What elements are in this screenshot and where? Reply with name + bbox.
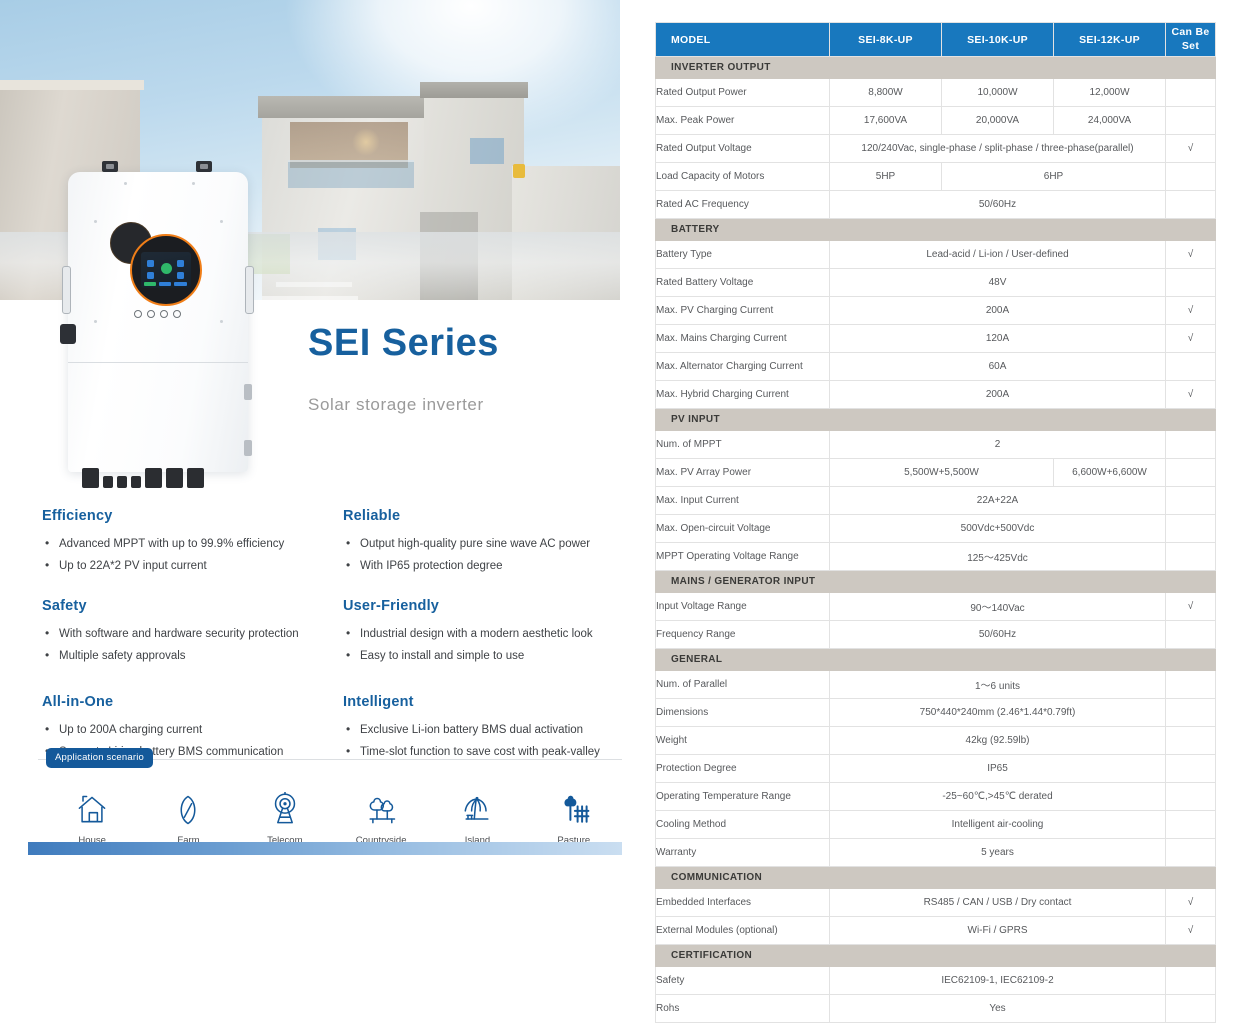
spec-row: Rated Output Power8,800W10,000W12,000W — [656, 79, 1216, 107]
spec-row-value: 22A+22A — [830, 487, 1166, 515]
control-button — [173, 310, 181, 318]
header-model-label: MODEL — [656, 23, 830, 57]
spec-row-label: Max. PV Array Power — [656, 459, 830, 487]
spec-can-be-set-cell — [1166, 163, 1216, 191]
control-button — [147, 310, 155, 318]
spec-row-value: Wi-Fi / GPRS — [830, 917, 1166, 945]
tree-fence-icon — [526, 784, 622, 828]
spec-row-label: Max. Open-circuit Voltage — [656, 515, 830, 543]
spec-row-label: Operating Temperature Range — [656, 783, 830, 811]
spec-can-be-set-cell: √ — [1166, 593, 1216, 621]
spec-row: Dimensions750*440*240mm (2.46*1.44*0.79f… — [656, 699, 1216, 727]
spec-row: Max. PV Array Power5,500W+5,500W6,600W+6… — [656, 459, 1216, 487]
spec-row-value: IP65 — [830, 755, 1166, 783]
spec-row-value: RS485 / CAN / USB / Dry contact — [830, 889, 1166, 917]
spec-row-label: Embedded Interfaces — [656, 889, 830, 917]
feature-group: User-FriendlyIndustrial design with a mo… — [343, 598, 622, 668]
spec-section-header: COMMUNICATION — [656, 867, 1216, 889]
window-upper — [470, 138, 504, 164]
specification-table: MODEL SEI-8K-UP SEI-10K-UP SEI-12K-UP Ca… — [655, 22, 1216, 1023]
header-model-2: SEI-10K-UP — [942, 23, 1054, 57]
spec-can-be-set-cell — [1166, 783, 1216, 811]
spec-can-be-set-cell — [1166, 431, 1216, 459]
spec-can-be-set-cell — [1166, 755, 1216, 783]
spec-row-label: Protection Degree — [656, 755, 830, 783]
scenario-item: Countryside — [333, 784, 429, 846]
spec-can-be-set-cell — [1166, 107, 1216, 135]
feature-heading: User-Friendly — [343, 598, 622, 614]
spec-row-value: 6,600W+6,600W — [1054, 459, 1166, 487]
cable-gland — [131, 476, 141, 488]
cable-glands — [82, 468, 204, 488]
spec-row-value: 50/60Hz — [830, 191, 1166, 219]
left-panel: SEI Series Solar storage inverter Effici… — [0, 0, 640, 867]
spec-row-value: 12,000W — [1054, 79, 1166, 107]
cable-gland — [117, 476, 127, 488]
feature-column-right: ReliableOutput high-quality pure sine wa… — [343, 508, 622, 784]
spec-row-value: 200A — [830, 297, 1166, 325]
spec-row: Frequency Range50/60Hz — [656, 621, 1216, 649]
spec-can-be-set-cell — [1166, 459, 1216, 487]
spec-can-be-set-cell — [1166, 191, 1216, 219]
mount-bracket — [102, 161, 118, 172]
screw — [220, 320, 223, 323]
spec-row-label: Max. Hybrid Charging Current — [656, 381, 830, 409]
spec-row: External Modules (optional)Wi-Fi / GPRS√ — [656, 917, 1216, 945]
spec-can-be-set-cell: √ — [1166, 241, 1216, 269]
bottom-gradient-bar — [28, 842, 622, 855]
spec-row-value: IEC62109-1, IEC62109-2 — [830, 967, 1166, 995]
spec-section-title: CERTIFICATION — [656, 945, 1216, 967]
screw — [124, 182, 127, 185]
feature-bullet: Multiple safety approvals — [42, 645, 321, 667]
spec-can-be-set-cell — [1166, 487, 1216, 515]
screw — [192, 182, 195, 185]
spec-can-be-set-cell — [1166, 995, 1216, 1023]
header-can-be-set: Can Be Set — [1166, 23, 1216, 57]
side-clip — [244, 384, 252, 400]
spec-row-value: 5HP — [830, 163, 942, 191]
screen-status-indicator — [161, 263, 172, 274]
chassis-seam — [68, 362, 248, 363]
spec-can-be-set-cell — [1166, 727, 1216, 755]
spec-row: Cooling MethodIntelligent air-cooling — [656, 811, 1216, 839]
spec-row-label: Rated Output Voltage — [656, 135, 830, 163]
spec-table-body: INVERTER OUTPUTRated Output Power8,800W1… — [656, 57, 1216, 1023]
spec-row: Max. Input Current22A+22A — [656, 487, 1216, 515]
scenario-badge: Application scenario — [46, 748, 153, 768]
house-right-roof — [420, 82, 528, 98]
spec-section-header: INVERTER OUTPUT — [656, 57, 1216, 79]
spec-section-title: BATTERY — [656, 219, 1216, 241]
spec-row-value: Yes — [830, 995, 1166, 1023]
spec-can-be-set-cell: √ — [1166, 297, 1216, 325]
spec-row-value: 750*440*240mm (2.46*1.44*0.79ft) — [830, 699, 1166, 727]
spec-can-be-set-cell — [1166, 543, 1216, 571]
spec-row-label: Rated Output Power — [656, 79, 830, 107]
spec-row: Max. Mains Charging Current120A√ — [656, 325, 1216, 353]
screen-tile — [147, 272, 154, 279]
scenario-item: Farm — [140, 784, 236, 846]
spec-row: MPPT Operating Voltage Range125～425Vdc — [656, 543, 1216, 571]
screen-bar — [159, 282, 171, 286]
feature-list: EfficiencyAdvanced MPPT with up to 99.9%… — [42, 508, 622, 784]
feature-heading: Efficiency — [42, 508, 321, 524]
spec-row-label: Warranty — [656, 839, 830, 867]
spec-row-label: Max. Mains Charging Current — [656, 325, 830, 353]
palm-island-icon — [429, 784, 525, 828]
spec-row-value: 125～425Vdc — [830, 543, 1166, 571]
spec-row: Max. Open-circuit Voltage500Vdc+500Vdc — [656, 515, 1216, 543]
scenario-item: Pasture — [526, 784, 622, 846]
feature-bullet: With IP65 protection degree — [343, 555, 622, 577]
spec-can-be-set-cell — [1166, 269, 1216, 297]
inverter-chassis — [68, 172, 248, 472]
spec-row-label: Input Voltage Range — [656, 593, 830, 621]
spec-section-title: GENERAL — [656, 649, 1216, 671]
spec-row-value: 500Vdc+500Vdc — [830, 515, 1166, 543]
spec-row-value: 90～140Vac — [830, 593, 1166, 621]
spec-can-be-set-cell — [1166, 79, 1216, 107]
spec-can-be-set-cell — [1166, 811, 1216, 839]
spec-row: Load Capacity of Motors5HP6HP — [656, 163, 1216, 191]
spec-row: Num. of MPPT2 — [656, 431, 1216, 459]
feature-bullet: With software and hardware security prot… — [42, 623, 321, 645]
spec-row-label: Max. Input Current — [656, 487, 830, 515]
spec-row-value: 1～6 units — [830, 671, 1166, 699]
spec-can-be-set-cell — [1166, 967, 1216, 995]
spec-row: Weight42kg (92.59lb) — [656, 727, 1216, 755]
feature-heading: Intelligent — [343, 694, 622, 710]
trees-icon — [333, 784, 429, 828]
inverter-product-image — [68, 172, 248, 490]
spec-row-value: 24,000VA — [1054, 107, 1166, 135]
control-buttons — [134, 310, 181, 318]
spec-can-be-set-cell: √ — [1166, 917, 1216, 945]
spec-row: Rated AC Frequency50/60Hz — [656, 191, 1216, 219]
spec-can-be-set-cell: √ — [1166, 889, 1216, 917]
spec-row-value: 50/60Hz — [830, 621, 1166, 649]
spec-row-label: Num. of Parallel — [656, 671, 830, 699]
spec-row-label: Battery Type — [656, 241, 830, 269]
antenna-tower-icon — [237, 784, 333, 828]
spec-row-label: External Modules (optional) — [656, 917, 830, 945]
spec-table-head: MODEL SEI-8K-UP SEI-10K-UP SEI-12K-UP Ca… — [656, 23, 1216, 57]
screen-tile — [147, 260, 154, 267]
spec-section-title: INVERTER OUTPUT — [656, 57, 1216, 79]
spec-section-header: GENERAL — [656, 649, 1216, 671]
spec-can-be-set-cell — [1166, 839, 1216, 867]
spec-row-value: 120A — [830, 325, 1166, 353]
spec-row-label: MPPT Operating Voltage Range — [656, 543, 830, 571]
spec-row-label: Rohs — [656, 995, 830, 1023]
cable-gland — [187, 468, 204, 488]
spec-row-label: Weight — [656, 727, 830, 755]
spec-row-value: 5 years — [830, 839, 1166, 867]
feature-bullet: Exclusive Li-ion battery BMS dual activa… — [343, 719, 622, 741]
spec-row-value: 200A — [830, 381, 1166, 409]
spec-row-label: Dimensions — [656, 699, 830, 727]
spec-row-value: 8,800W — [830, 79, 942, 107]
spec-row-label: Max. PV Charging Current — [656, 297, 830, 325]
spec-row-value: 60A — [830, 353, 1166, 381]
spec-row-value: Lead-acid / Li-ion / User-defined — [830, 241, 1166, 269]
spec-can-be-set-cell: √ — [1166, 325, 1216, 353]
house-upper-roof — [258, 96, 444, 118]
spec-row-label: Rated AC Frequency — [656, 191, 830, 219]
cable-gland — [166, 468, 183, 488]
scenario-icon-row: HouseFarmTelecomCountrysideIslandPasture — [38, 784, 622, 846]
screen-tile — [177, 272, 184, 279]
feature-heading: Reliable — [343, 508, 622, 524]
header-model-1: SEI-8K-UP — [830, 23, 942, 57]
house-balcony — [288, 160, 414, 188]
spec-can-be-set-cell — [1166, 353, 1216, 381]
control-button — [160, 310, 168, 318]
spec-row-value: Intelligent air-cooling — [830, 811, 1166, 839]
spec-row-label: Num. of MPPT — [656, 431, 830, 459]
spec-can-be-set-cell: √ — [1166, 381, 1216, 409]
building-left-roof — [0, 80, 144, 90]
spec-row-value: 5,500W+5,500W — [830, 459, 1054, 487]
feature-bullet: Industrial design with a modern aestheti… — [343, 623, 622, 645]
product-title: SEI Series — [308, 322, 499, 365]
spec-row-label: Load Capacity of Motors — [656, 163, 830, 191]
feature-column-left: EfficiencyAdvanced MPPT with up to 99.9%… — [42, 508, 321, 784]
spec-row: Max. Peak Power17,600VA20,000VA24,000VA — [656, 107, 1216, 135]
spec-row-label: Rated Battery Voltage — [656, 269, 830, 297]
feature-bullet: Up to 200A charging current — [42, 719, 321, 741]
spec-section-title: PV INPUT — [656, 409, 1216, 431]
spec-row: Operating Temperature Range-25~60℃,>45℃ … — [656, 783, 1216, 811]
spec-section-header: CERTIFICATION — [656, 945, 1216, 967]
spec-row-label: Max. Alternator Charging Current — [656, 353, 830, 381]
spec-row: Protection DegreeIP65 — [656, 755, 1216, 783]
mount-bracket — [196, 161, 212, 172]
spec-row: Max. PV Charging Current200A√ — [656, 297, 1216, 325]
scenario-item: House — [44, 784, 140, 846]
cable-gland — [103, 476, 113, 488]
screw — [94, 320, 97, 323]
spec-row-label: Cooling Method — [656, 811, 830, 839]
side-handle-left — [62, 266, 71, 314]
scenario-header: Application scenario — [38, 748, 622, 770]
feature-group: SafetyWith software and hardware securit… — [42, 598, 321, 668]
side-handle-right — [245, 266, 254, 314]
scenario-item: Telecom — [237, 784, 333, 846]
feature-bullet: Easy to install and simple to use — [343, 645, 622, 667]
spec-row-value: 48V — [830, 269, 1166, 297]
spec-row: Battery TypeLead-acid / Li-ion / User-de… — [656, 241, 1216, 269]
spec-can-be-set-cell — [1166, 515, 1216, 543]
spec-row: Input Voltage Range90～140Vac√ — [656, 593, 1216, 621]
spec-row-value: 120/240Vac, single-phase / split-phase /… — [830, 135, 1166, 163]
spec-row-label: Safety — [656, 967, 830, 995]
spec-row: Embedded InterfacesRS485 / CAN / USB / D… — [656, 889, 1216, 917]
display-screen — [141, 252, 191, 288]
house-icon — [44, 784, 140, 828]
feature-bullet: Up to 22A*2 PV input current — [42, 555, 321, 577]
spec-row: Rated Battery Voltage48V — [656, 269, 1216, 297]
spec-row: SafetyIEC62109-1, IEC62109-2 — [656, 967, 1216, 995]
spec-row-value: 2 — [830, 431, 1166, 459]
title-block: SEI Series Solar storage inverter — [308, 322, 499, 415]
cable-gland — [145, 468, 162, 488]
screw — [220, 220, 223, 223]
spec-row: Rated Output Voltage120/240Vac, single-p… — [656, 135, 1216, 163]
control-button — [134, 310, 142, 318]
spec-row: Num. of Parallel1～6 units — [656, 671, 1216, 699]
screen-tile — [177, 260, 184, 267]
spec-section-title: MAINS / GENERATOR INPUT — [656, 571, 1216, 593]
spec-row-value: 6HP — [942, 163, 1166, 191]
table-header-row: MODEL SEI-8K-UP SEI-10K-UP SEI-12K-UP Ca… — [656, 23, 1216, 57]
lens-flare — [352, 128, 380, 156]
side-connector-box — [60, 324, 76, 344]
feature-bullet: Output high-quality pure sine wave AC po… — [343, 533, 622, 555]
display-bezel — [130, 234, 202, 306]
spec-can-be-set-cell — [1166, 671, 1216, 699]
screen-bar — [174, 282, 187, 286]
spec-row-value: 20,000VA — [942, 107, 1054, 135]
feature-heading: Safety — [42, 598, 321, 614]
spec-row: Max. Hybrid Charging Current200A√ — [656, 381, 1216, 409]
spec-row: RohsYes — [656, 995, 1216, 1023]
leaf-icon — [140, 784, 236, 828]
header-model-3: SEI-12K-UP — [1054, 23, 1166, 57]
spec-row-label: Max. Peak Power — [656, 107, 830, 135]
feature-heading: All-in-One — [42, 694, 321, 710]
spec-row: Warranty5 years — [656, 839, 1216, 867]
screw — [94, 220, 97, 223]
feature-group: EfficiencyAdvanced MPPT with up to 99.9%… — [42, 508, 321, 578]
spec-row-value: 10,000W — [942, 79, 1054, 107]
spec-row-label: Frequency Range — [656, 621, 830, 649]
spec-row-value: 42kg (92.59lb) — [830, 727, 1166, 755]
cable-gland — [82, 468, 99, 488]
spec-section-header: MAINS / GENERATOR INPUT — [656, 571, 1216, 593]
scenario-item: Island — [429, 784, 525, 846]
spec-section-title: COMMUNICATION — [656, 867, 1216, 889]
feature-group: ReliableOutput high-quality pure sine wa… — [343, 508, 622, 578]
spec-row-value: -25~60℃,>45℃ derated — [830, 783, 1166, 811]
spec-can-be-set-cell: √ — [1166, 135, 1216, 163]
feature-bullet: Advanced MPPT with up to 99.9% efficienc… — [42, 533, 321, 555]
spec-row-value: 17,600VA — [830, 107, 942, 135]
spec-can-be-set-cell — [1166, 621, 1216, 649]
datasheet-page: SEI Series Solar storage inverter Effici… — [0, 0, 1233, 867]
spec-can-be-set-cell — [1166, 699, 1216, 727]
side-clip — [244, 440, 252, 456]
yellow-accent — [513, 164, 525, 178]
application-scenario: Application scenario HouseFarmTelecomCou… — [38, 748, 622, 846]
spec-section-header: BATTERY — [656, 219, 1216, 241]
screen-bar — [144, 282, 156, 286]
spec-panel: MODEL SEI-8K-UP SEI-10K-UP SEI-12K-UP Ca… — [640, 0, 1233, 867]
product-subtitle: Solar storage inverter — [308, 395, 499, 415]
spec-row: Max. Alternator Charging Current60A — [656, 353, 1216, 381]
spec-section-header: PV INPUT — [656, 409, 1216, 431]
